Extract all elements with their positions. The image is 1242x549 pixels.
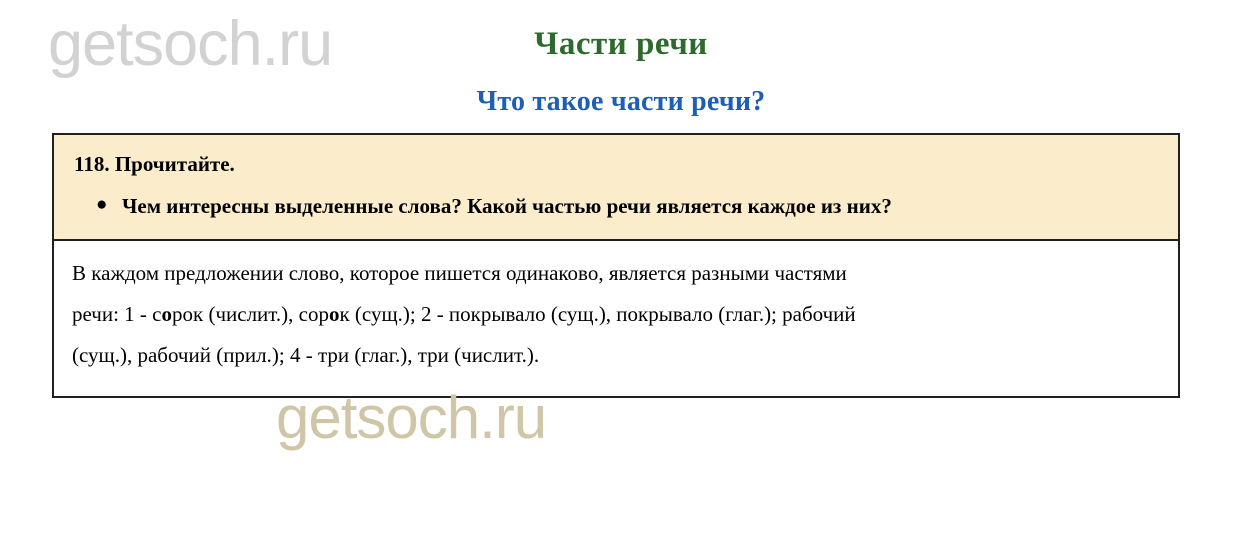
- answer-section: В каждом предложении слово, которое пише…: [54, 241, 1178, 396]
- task-question-item: ●Чем интересны выделенные слова? Какой ч…: [72, 187, 1160, 226]
- answer-line: (сущ.), рабочий (прил.); 4 - три (глаг.)…: [72, 335, 1160, 376]
- answer-text-run: к (сущ.); 2 - покрывало (сущ.), покрывал…: [339, 302, 855, 326]
- answer-text-run: В каждом предложении слово, которое пише…: [72, 261, 847, 285]
- answer-text-run: речи: 1 - с: [72, 302, 162, 326]
- task-question-text: Чем интересны выделенные слова? Какой ча…: [122, 194, 892, 218]
- exercise-box: 118. Прочитайте. ●Чем интересны выделенн…: [52, 133, 1180, 398]
- bullet-icon: ●: [96, 187, 107, 222]
- page-subtitle: Что такое части речи?: [0, 86, 1242, 118]
- answer-line: речи: 1 - сорок (числит.), сорок (сущ.);…: [72, 294, 1160, 335]
- task-question-list: ●Чем интересны выделенные слова? Какой ч…: [72, 187, 1160, 226]
- stressed-vowel: о: [162, 302, 173, 326]
- answer-text-run: (сущ.), рабочий (прил.); 4 - три (глаг.)…: [72, 343, 539, 367]
- answer-line: В каждом предложении слово, которое пише…: [72, 253, 1160, 294]
- page-title: Части речи: [0, 26, 1242, 63]
- stressed-vowel: о: [329, 302, 340, 326]
- answer-text-run: рок (числит.), сор: [172, 302, 329, 326]
- task-number-heading: 118. Прочитайте.: [74, 149, 1160, 181]
- page-root: getsoch.ru Части речи Что такое части ре…: [0, 0, 1242, 549]
- task-section: 118. Прочитайте. ●Чем интересны выделенн…: [54, 135, 1178, 241]
